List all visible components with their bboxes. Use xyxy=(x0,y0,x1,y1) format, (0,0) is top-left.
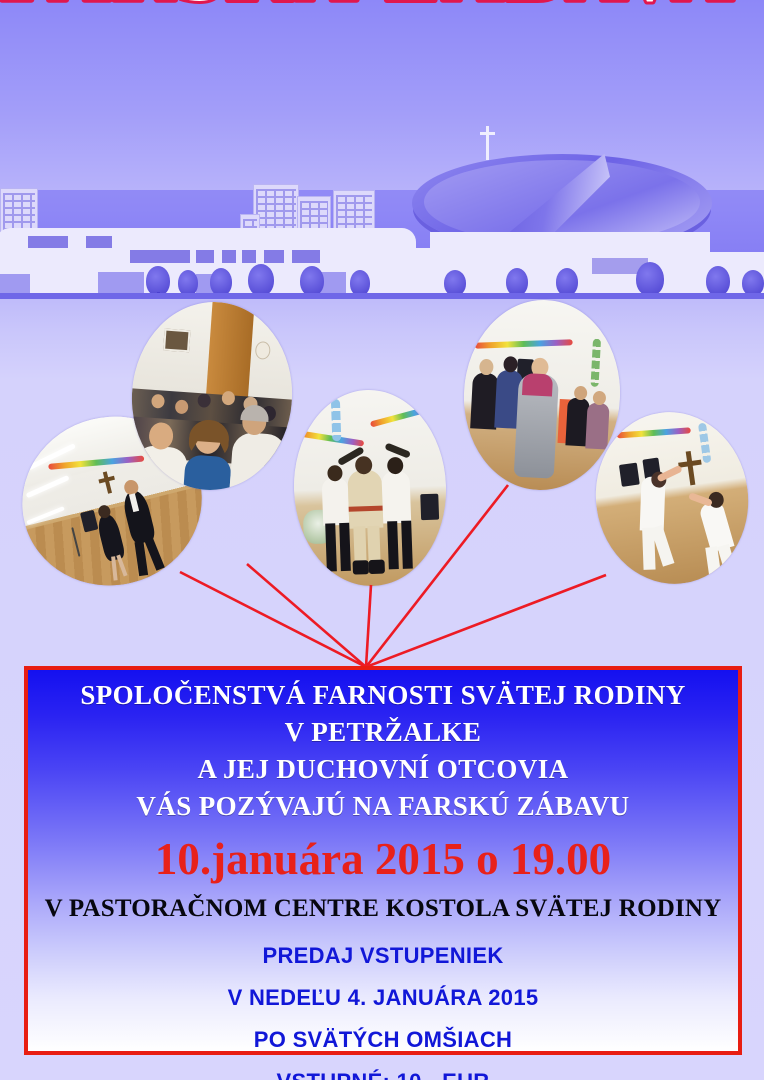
info-line-invitation: VÁS POZÝVAJÚ NA FARSKÚ ZÁBAVU xyxy=(28,793,738,820)
dancer-legs-dark xyxy=(325,523,337,571)
photo-guests-smiling xyxy=(126,297,299,496)
dancer-legs-dark xyxy=(339,523,351,571)
dancer-right-white xyxy=(381,471,411,524)
info-line-price: VSTUPNÉ: 10,- EUR xyxy=(28,1071,738,1080)
window xyxy=(28,236,68,248)
info-line-organiser-2: V PETRŽALKE xyxy=(28,719,738,746)
dancer-boot xyxy=(369,560,385,575)
parish-church-building-photo xyxy=(0,0,764,299)
info-line-date-time: 10.januára 2015 o 19.00 xyxy=(28,837,738,882)
tree xyxy=(556,268,578,296)
ground-strip xyxy=(0,293,764,299)
window xyxy=(0,274,30,294)
tree xyxy=(636,262,664,296)
church-cross-icon xyxy=(480,132,495,135)
tree xyxy=(706,266,730,296)
guest-man-grey xyxy=(229,432,287,496)
window xyxy=(196,250,214,263)
pointer-line-3 xyxy=(366,585,371,667)
info-line-organiser-1: SPOLOČENSTVÁ FARNOSTI SVÄTEJ RODINY xyxy=(28,682,738,709)
window xyxy=(222,250,236,263)
photo-folk-performers xyxy=(585,402,759,593)
wall-niche xyxy=(163,329,190,353)
window xyxy=(264,250,284,263)
info-line-tickets-date: V NEDEĽU 4. JANUÁRA 2015 xyxy=(28,987,738,1009)
dancer-back-white xyxy=(322,477,350,526)
info-line-tickets-header: PREDAJ VSTUPENIEK xyxy=(28,945,738,967)
info-line-tickets-when: PO SVÄTÝCH OMŠIACH xyxy=(28,1029,738,1051)
balloon-chain xyxy=(331,399,341,441)
pointer-line-5 xyxy=(366,575,606,667)
dancer-legs-dark xyxy=(387,521,399,569)
dancer-centre-beige xyxy=(347,470,383,529)
window xyxy=(292,250,320,263)
tree xyxy=(300,266,324,296)
window xyxy=(98,272,144,294)
tree xyxy=(210,268,232,296)
dancer-legs-dark xyxy=(401,521,413,569)
sky-region xyxy=(0,0,764,190)
dancer-boot xyxy=(353,560,369,575)
dancer-pink-top xyxy=(522,373,553,397)
loudspeaker xyxy=(420,494,439,521)
window xyxy=(130,250,190,263)
poster-canvas: FARSKÁ ZÁBAVA // place title text onto t… xyxy=(0,0,764,1080)
guest-man-white-shirt xyxy=(133,445,188,493)
tree xyxy=(248,264,274,296)
window xyxy=(242,250,256,263)
info-line-organiser-3: A JEJ DUCHOVNÍ OTCOVIA xyxy=(28,756,738,783)
loudspeaker xyxy=(619,463,640,487)
tree xyxy=(506,268,528,296)
window xyxy=(86,236,112,248)
photo-group-dance-circle xyxy=(291,387,450,588)
event-info-box: SPOLOČENSTVÁ FARNOSTI SVÄTEJ RODINY V PE… xyxy=(24,666,742,1055)
info-line-venue: V PASTORAČNOM CENTRE KOSTOLA SVÄTEJ RODI… xyxy=(28,896,738,921)
